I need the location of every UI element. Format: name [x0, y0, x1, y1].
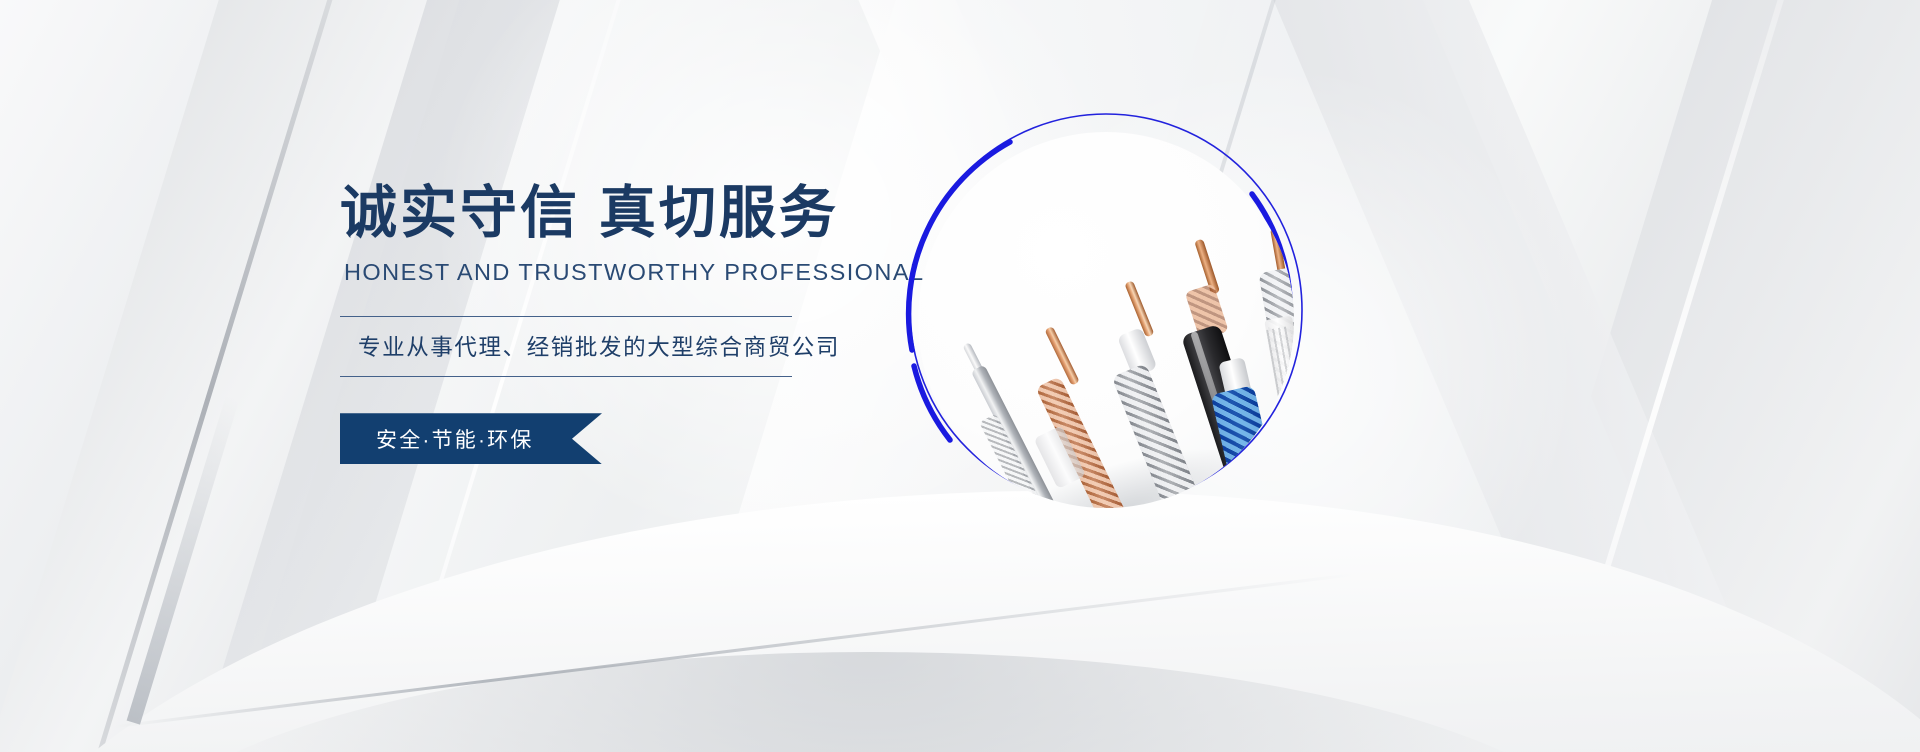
banner-subtitle-chinese: 专业从事代理、经销批发的大型综合商贸公司	[358, 330, 792, 362]
cable-label-print	[1266, 326, 1294, 403]
banner-subtitle-english: HONEST AND TRUSTWORTHY PROFESSIONAL SERV…	[344, 259, 900, 286]
cable-copper-core	[1044, 326, 1079, 386]
promotional-banner: 诚实守信 真切服务 HONEST AND TRUSTWORTHY PROFESS…	[0, 0, 1920, 752]
banner-ribbon-badge: 安全·节能·环保	[340, 413, 602, 464]
banner-text-block: 诚实守信 真切服务 HONEST AND TRUSTWORTHY PROFESS…	[340, 180, 900, 464]
banner-subtitle-rule-box: 专业从事代理、经销批发的大型综合商贸公司	[340, 316, 792, 377]
product-medallion	[908, 120, 1308, 520]
banner-title: 诚实守信 真切服务	[340, 180, 900, 247]
ribbon-label: 安全·节能·环保	[376, 424, 534, 454]
cable-product-photo	[918, 132, 1294, 508]
